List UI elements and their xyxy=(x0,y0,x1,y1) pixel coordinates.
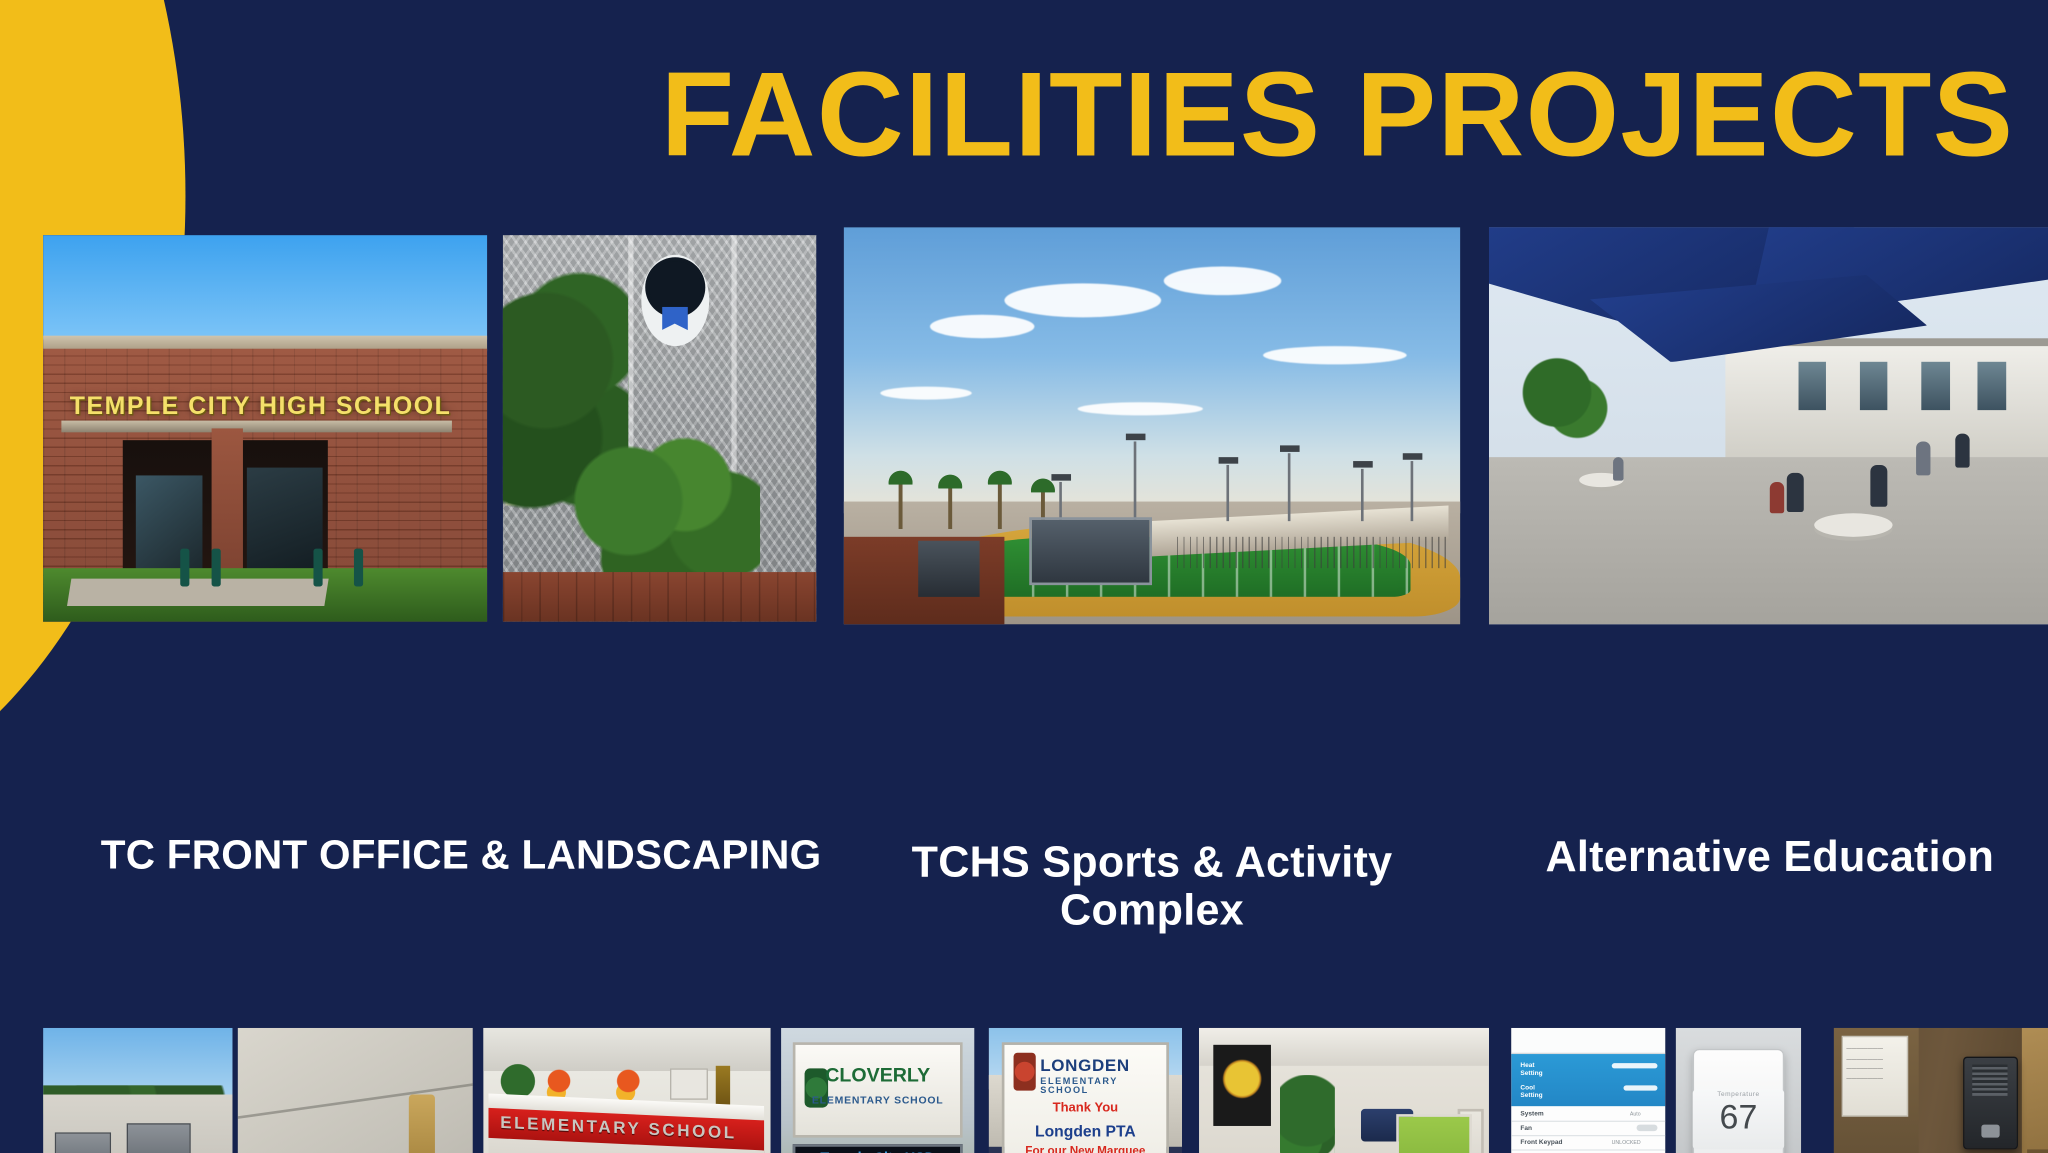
brick-planter-wall xyxy=(503,571,816,621)
entry-glass-right xyxy=(247,467,322,571)
glass-door xyxy=(2022,1028,2048,1153)
sign-panel: CLOVERLY ELEMENTARY SCHOOL xyxy=(793,1042,963,1137)
perimeter-fence xyxy=(1177,537,1448,569)
person xyxy=(1916,442,1930,476)
person xyxy=(1955,434,1969,468)
flower-arrangement xyxy=(615,1066,641,1104)
trophy xyxy=(716,1066,730,1106)
tree xyxy=(1511,346,1612,449)
heat-setpoint-control[interactable] xyxy=(1611,1064,1657,1069)
notice-text: ———————————————————————————— xyxy=(1846,1044,1860,1084)
bollard xyxy=(212,548,221,587)
hvac-unit xyxy=(54,1133,111,1153)
display-temperature: 67 xyxy=(1693,1097,1783,1137)
doorbell-button[interactable] xyxy=(1981,1125,2000,1138)
cloverly-marquee-sign-photo: CLOVERLY ELEMENTARY SCHOOL Temple City U… xyxy=(781,1028,974,1153)
scoreboard xyxy=(1029,517,1152,584)
picnic-table xyxy=(1815,513,1893,537)
hvac-unit xyxy=(126,1123,190,1153)
longden-pta-sign-photo: LONGDEN ELEMENTARY SCHOOL Thank You Long… xyxy=(989,1028,1182,1153)
row-label: Fan xyxy=(1520,1125,1532,1133)
light-pole xyxy=(1288,454,1291,521)
caption-tchs-sports-complex: TCHS Sports & Activity Complex xyxy=(844,839,1460,936)
thermostat-display: Temperature 67 xyxy=(1693,1089,1783,1150)
light-pole xyxy=(1362,469,1365,521)
image-wall-thermostat[interactable]: Temperature 67 PELICAN xyxy=(1676,1028,1801,1153)
sky xyxy=(43,235,487,339)
message-line-3: For our New Marquee xyxy=(1005,1144,1166,1153)
ui-header xyxy=(1511,1028,1665,1054)
cloud xyxy=(1004,283,1161,317)
light-pole xyxy=(1411,462,1414,522)
secondary-scoreboard xyxy=(918,541,980,597)
printer xyxy=(670,1068,707,1099)
potted-plant xyxy=(1280,1075,1335,1153)
row-fan[interactable]: Fan xyxy=(1511,1121,1665,1136)
row-value: Auto xyxy=(1630,1110,1641,1117)
green-room-divider xyxy=(1396,1113,1471,1153)
image-tc-front-office[interactable]: TEMPLE CITY HIGH SCHOOL xyxy=(43,235,487,622)
image-longden-pta-sign[interactable]: LONGDEN ELEMENTARY SCHOOL Thank You Long… xyxy=(989,1028,1182,1153)
school-subtitle: ELEMENTARY SCHOOL xyxy=(1040,1077,1166,1095)
image-cloverly-marquee[interactable]: CLOVERLY ELEMENTARY SCHOOL Temple City U… xyxy=(781,1028,974,1153)
building-sign-text: TEMPLE CITY HIGH SCHOOL xyxy=(70,394,452,423)
elementary-office-counter-photo: ELEMENTARY SCHOOL xyxy=(483,1028,770,1153)
person xyxy=(1871,465,1888,507)
palm-tree xyxy=(949,481,953,529)
image-tc-landscaping[interactable] xyxy=(503,235,816,622)
window xyxy=(1860,362,1888,410)
palm-tree xyxy=(998,477,1002,529)
person xyxy=(1770,481,1784,512)
tc-front-office-photo: TEMPLE CITY HIGH SCHOOL xyxy=(43,235,487,622)
slide-canvas: FACILITIES PROJECTS TEMPLE CITY HIGH SCH… xyxy=(0,0,2048,1153)
led-video-board: Temple City USD Cloverly Elementary xyxy=(793,1144,963,1153)
doorbell-intercom-photo: ———————————————————————————— xyxy=(1834,1028,2048,1153)
image-tchs-sports-complex[interactable] xyxy=(844,227,1460,624)
setpoint-panel: HeatSetting CoolSetting xyxy=(1511,1054,1665,1107)
marquee-panel: LONGDEN ELEMENTARY SCHOOL Thank You Long… xyxy=(1002,1042,1168,1153)
person xyxy=(1787,473,1804,512)
intercom-doorbell-device[interactable] xyxy=(1963,1056,2018,1149)
image-alternative-education[interactable] xyxy=(1489,227,2048,624)
school-logo-icon xyxy=(1013,1053,1036,1090)
image-pelican-thermostat-ui[interactable]: PELICAN WIRELESS Thermostat Control 65° … xyxy=(1511,1028,1665,1153)
row-value: UNLOCKED xyxy=(1612,1139,1641,1146)
cloverly-wellness-room-photo xyxy=(1199,1028,1489,1153)
concrete-walkway-photo xyxy=(238,1028,473,1153)
entry-glass-left xyxy=(136,475,203,572)
image-elementary-office-counter[interactable]: ELEMENTARY SCHOOL xyxy=(483,1028,770,1153)
image-concrete-walkway[interactable] xyxy=(238,1028,473,1153)
alternative-education-rendering xyxy=(1489,227,2048,624)
message-line-2: Longden PTA xyxy=(1005,1122,1166,1140)
cool-setpoint-control[interactable] xyxy=(1624,1085,1658,1090)
row-label: System xyxy=(1520,1110,1543,1118)
light-pole xyxy=(1133,442,1136,521)
walkway xyxy=(68,579,330,606)
school-name: CLOVERLY xyxy=(795,1065,960,1087)
caption-tc-front-office: TC FRONT OFFICE & LANDSCAPING xyxy=(43,833,879,878)
roof-hvac-photo xyxy=(43,1028,232,1153)
window xyxy=(1798,362,1826,410)
page-title: FACILITIES PROJECTS xyxy=(0,52,2048,178)
cloud xyxy=(930,315,1034,339)
row-front-keypad[interactable]: Front Keypad UNLOCKED xyxy=(1511,1136,1665,1151)
niche-best-schools-badge-icon xyxy=(641,254,709,345)
row-label: Front Keypad xyxy=(1520,1139,1562,1147)
fan-toggle[interactable] xyxy=(1636,1124,1658,1131)
wall-thermostat-photo: Temperature 67 PELICAN xyxy=(1676,1028,1801,1153)
message-line-1: Thank You xyxy=(1005,1102,1166,1116)
posted-notice: ———————————————————————————— xyxy=(1841,1036,1908,1117)
image-roof-hvac[interactable] xyxy=(43,1028,232,1153)
bollard-post xyxy=(409,1094,435,1153)
pelican-thermostat-ui-screenshot: PELICAN WIRELESS Thermostat Control 65° … xyxy=(1511,1028,1665,1153)
image-doorbell-intercom[interactable]: ———————————————————————————— xyxy=(1834,1028,2048,1153)
bollard xyxy=(314,548,323,587)
wall-poster xyxy=(1214,1045,1272,1126)
window xyxy=(1921,362,1949,410)
tc-landscaping-photo xyxy=(503,235,816,622)
window xyxy=(1978,362,2006,410)
plaza-ground xyxy=(1489,458,2048,625)
awning xyxy=(61,421,452,433)
cloud xyxy=(1078,402,1203,415)
interior-view xyxy=(2027,1149,2048,1153)
cloud xyxy=(881,386,972,399)
speaker-grille-icon xyxy=(1972,1065,2007,1096)
light-pole xyxy=(1226,466,1229,522)
person xyxy=(1613,458,1623,482)
school-subtitle: ELEMENTARY SCHOOL xyxy=(795,1095,960,1107)
bollard xyxy=(354,548,363,587)
bollard xyxy=(181,548,190,587)
school-name: LONGDEN xyxy=(1040,1055,1129,1075)
row-system[interactable]: System Auto xyxy=(1511,1107,1665,1122)
palm-tree xyxy=(899,477,903,529)
caption-alternative-education: Alternative Education xyxy=(1489,833,2048,881)
tchs-sports-complex-rendering xyxy=(844,227,1460,624)
image-cloverly-wellness-room[interactable] xyxy=(1199,1028,1489,1153)
light-pole xyxy=(1060,481,1063,521)
